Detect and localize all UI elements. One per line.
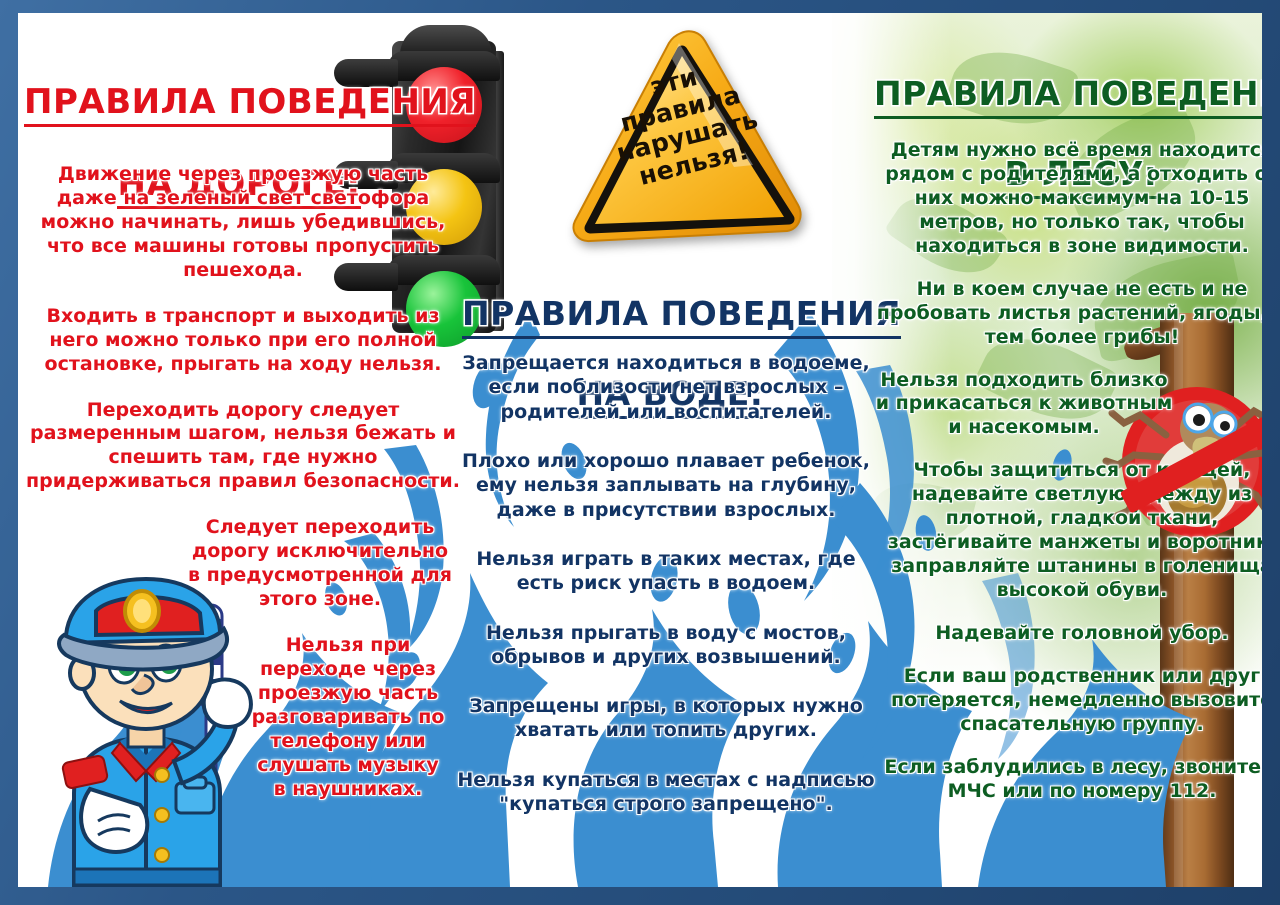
heading-water-line1: ПРАВИЛА ПОВЕДЕНИЯ [462, 296, 901, 339]
rule-forest-1: Детям нужно всё время находится рядом с … [874, 139, 1262, 259]
poster-board: эти правила нарушать нельзя! [18, 13, 1262, 887]
rule-forest-2: Ни в коем случае не есть и не пробовать … [874, 278, 1262, 350]
rule-road-5: Нельзя при переходе через проезжую часть… [248, 634, 448, 802]
safety-poster: эти правила нарушать нельзя! [0, 0, 1280, 905]
heading-forest-line1: ПРАВИЛА ПОВЕДЕНИЯ [874, 76, 1262, 119]
rule-forest-3: Нельзя подходить близко и прикасаться к … [874, 369, 1174, 441]
rule-forest-7: Если заблудились в лесу, звоните в МЧС и… [874, 756, 1262, 804]
rule-road-3: Переходить дорогу следует размеренным ша… [26, 399, 460, 495]
rule-water-5: Запрещены игры, в которых нужно хватать … [450, 694, 882, 743]
heading-road-line1: ПРАВИЛА ПОВЕДЕНИЯ [24, 83, 476, 127]
rules-forest-list: Детям нужно всё время находится рядом с … [874, 139, 1262, 823]
rule-road-2: Входить в транспорт и выходить из него м… [26, 305, 460, 377]
rule-water-1: Запрещается находиться в водоеме, если п… [450, 351, 882, 424]
rules-water-list: Запрещается находиться в водоеме, если п… [450, 351, 882, 841]
rule-road-1: Движение через проезжую часть даже на зе… [26, 163, 460, 283]
rule-water-6: Нельзя купаться в местах с надписью "куп… [450, 768, 882, 817]
rule-water-2: Плохо или хорошо плавает ребенок, ему не… [450, 449, 882, 522]
rule-forest-4: Чтобы защититься от клещей, надевайте св… [874, 459, 1262, 603]
warning-triangle-sign: эти правила нарушать нельзя! [548, 25, 806, 261]
rule-water-3: Нельзя играть в таких местах, где есть р… [450, 547, 882, 596]
rule-forest-5: Надевайте головной убор. [874, 622, 1262, 646]
rule-forest-6: Если ваш родственник или друг потеряется… [874, 665, 1262, 737]
rule-road-4: Следует переходить дорогу исключительно … [186, 516, 454, 612]
rule-water-4: Нельзя прыгать в воду с мостов, обрывов … [450, 621, 882, 670]
rules-road-list: Движение через проезжую часть даже на зе… [26, 163, 460, 824]
